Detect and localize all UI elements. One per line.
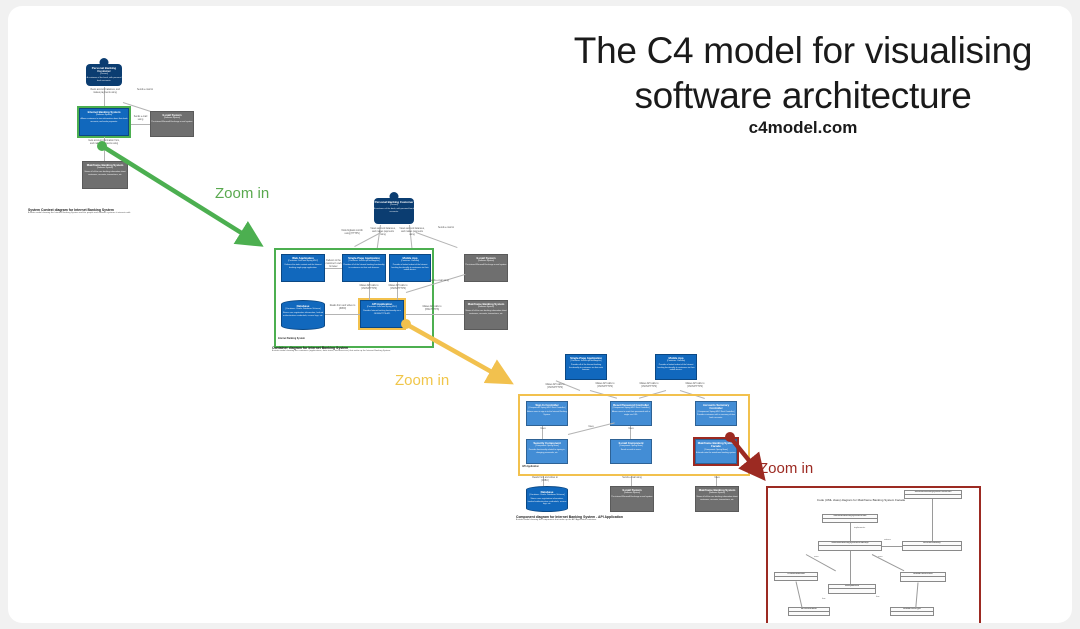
level1-system-context-diagram: Personal Banking Customer [Person] A cus… <box>28 58 168 228</box>
level2-edge-label-8: Reads from and writes to [JDBC] <box>326 305 359 311</box>
level3-cm0-stereotype: [Component: Spring MVC Rest Controller] <box>527 407 567 410</box>
level3-up1-description: Provides a limited subset of the Interne… <box>656 364 696 372</box>
level3-container-database[interactable]: Database [Container: Oracle Database Sch… <box>526 486 568 512</box>
level3-container-single-page-application[interactable]: Single-Page Application [Container: Java… <box>565 354 607 380</box>
level3-cm1-description: Allows users to reset their passwords wi… <box>611 411 651 416</box>
level4-edge-label-0: implements <box>854 527 865 529</box>
level1-system-description: Allows customers to view information abo… <box>80 118 128 123</box>
level3-edge-label-6: Uses <box>582 426 600 429</box>
level2-caption: Container diagram for Internet Banking S… <box>272 346 522 353</box>
level1-person-stereotype: [Person] <box>86 73 122 76</box>
level3-component-security-component[interactable]: Security Component [Component: Spring Be… <box>526 439 568 464</box>
level2-container-mobile-app[interactable]: Mobile App [Container: Xamarin] Provides… <box>389 254 431 282</box>
level2-ext1-description: Stores all of the core banking informati… <box>465 310 507 315</box>
level4-class-mainframe-facade-interface[interactable]: MainframeBankingSystemFacade <box>822 514 878 523</box>
level3-edge-label-9: Sends e-mail using <box>618 477 646 480</box>
screenshot-root: The C4 model for visualising software ar… <box>0 0 1080 629</box>
level3-external-mainframe-system[interactable]: Mainframe Banking System [Software Syste… <box>695 486 739 512</box>
level3-cm2-title: Accounts Summary Controller <box>696 404 736 411</box>
level3-cm4-stereotype: [Component: Spring Bean] <box>611 445 651 448</box>
level3-external-email-system[interactable]: E-mail System [Software System] The inte… <box>610 486 654 512</box>
level1-system-stereotype: [Software System] <box>80 114 128 117</box>
level2-edge-label-1: Visits bigbank.com/ib using [HTTPS] <box>340 230 364 236</box>
level2-edge-label-3: Views account balances, and makes paymen… <box>399 228 425 237</box>
level4-relation-uses-mid <box>850 551 851 584</box>
level4-edge-label-1: returns <box>884 539 891 541</box>
level4-code-diagram: Code (UML class) diagram for Mainframe B… <box>766 476 981 623</box>
level2-person-stereotype: [Person] <box>374 204 414 207</box>
level3-caption-sub: A static model showing the components th… <box>516 519 766 522</box>
level2-external-mainframe-system[interactable]: Mainframe Banking System [Software Syste… <box>464 300 508 330</box>
level2-edge-line-8 <box>325 314 360 315</box>
level3-edge-label-7: Uses <box>622 428 640 431</box>
level3-component-accounts-summary-controller[interactable]: Accounts Summary Controller [Component: … <box>695 401 737 426</box>
diagram-stage: The C4 model for visualising software ar… <box>8 6 1072 623</box>
level3-component-diagram: Single-Page Application [Container: Java… <box>510 346 760 526</box>
level3-container-mobile-app[interactable]: Mobile App [Container: Xamarin] Provides… <box>655 354 697 380</box>
level1-person-customer: Personal Banking Customer [Person] A cus… <box>86 58 122 86</box>
level2-edge-line-4 <box>416 232 458 248</box>
level2-c0-stereotype: [Container: Java and Spring MVC] <box>282 260 324 263</box>
page-subtitle: c4model.com <box>553 118 1053 138</box>
level2-ext0-stereotype: [Software System] <box>465 260 507 263</box>
zoom-in-label-green: Zoom in <box>215 185 269 202</box>
level4-class-customer-identifier[interactable]: CustomerIdentifier <box>774 572 818 581</box>
level1-caption-sub: A static model showing the Internet Bank… <box>28 212 168 215</box>
level3-edge-label-1: Makes API calls to [JSON/HTTPS] <box>542 384 568 390</box>
level4-edge-label-3: uses <box>878 556 883 558</box>
level3-edge-label-2: Makes API calls to [JSON/HTTPS] <box>592 383 618 389</box>
level4-relation-returns <box>882 546 902 547</box>
zoom-in-label-yellow: Zoom in <box>395 372 449 389</box>
level3-component-email-component[interactable]: E-mail Component [Component: Spring Bean… <box>610 439 652 464</box>
level1-mainframe-stereotype: [Software System] <box>83 167 127 170</box>
level1-email-stereotype: [Software System] <box>151 117 193 120</box>
page-title-line1: The C4 model for visualising <box>553 28 1053 73</box>
level4-edge-label-5: has <box>876 596 880 598</box>
level2-edge-line-10 <box>406 314 464 315</box>
level1-mainframe-description: Stores all of the core banking informati… <box>83 171 127 176</box>
level2-container-database[interactable]: Database [Container: Oracle Database Sch… <box>281 300 325 330</box>
level2-ext1-stereotype: [Software System] <box>465 306 507 309</box>
level2-db-description: Stores user registration information, ha… <box>282 312 324 317</box>
level2-edge-label-4: Sends e-mail to <box>432 227 460 230</box>
level3-cm5-title: Mainframe Banking System Facade <box>696 442 736 449</box>
level3-cm3-description: Provides functionality related to signin… <box>527 449 567 454</box>
level3-cm3-stereotype: [Component: Spring Bean] <box>527 445 567 448</box>
level4-edge-label-2: uses <box>814 556 819 558</box>
level2-ext0-description: The internal Microsoft Exchange e-mail s… <box>465 264 507 267</box>
level1-caption: System Context diagram for Internet Bank… <box>28 208 168 215</box>
level2-c3-stereotype: [Container: Java and Spring MVC] <box>361 306 403 309</box>
level3-component-mainframe-banking-system-facade[interactable]: Mainframe Banking System Facade [Compone… <box>695 439 737 464</box>
level4-class-account-number[interactable]: AccountNumber <box>788 607 830 616</box>
level2-db-stereotype: [Container: Oracle Database Schema] <box>282 308 324 311</box>
level2-edge-label-7: Makes API calls to [JSON/HTTPS] <box>385 285 411 291</box>
level4-class-mainframe-facade-impl[interactable]: MainframeBankingSystemFacadeImpl <box>818 541 882 551</box>
level3-up0-description: Provides all of the Internet banking fun… <box>566 364 606 372</box>
level3-dn2-stereotype: [Software System] <box>696 492 738 495</box>
level3-edge-label-5: Uses <box>534 428 552 431</box>
level1-edge-line-3 <box>131 124 150 125</box>
level2-container-single-page-application[interactable]: Single-Page Application [Container: Java… <box>342 254 386 282</box>
level4-edge-label-4: has <box>822 598 826 600</box>
level3-up0-stereotype: [Container: JavaScript and Angular] <box>566 360 606 363</box>
level3-boundary-label: API Application <box>522 466 572 469</box>
level3-component-sign-in-controller[interactable]: Sign In Controller [Component: Spring MV… <box>526 401 568 426</box>
level3-edge-label-8: Reads from and writes to [JDBC] <box>530 477 560 483</box>
level4-class-money-amount[interactable]: MoneyAmount <box>828 584 876 594</box>
level3-edge-label-3: Makes API calls to [JSON/HTTPS] <box>636 383 662 389</box>
level4-class-bank-account-type[interactable]: BankAccountType <box>890 607 934 616</box>
level2-c2-description: Provides a limited subset of the Interne… <box>390 264 430 272</box>
level3-cm5-description: A facade onto the mainframe banking syst… <box>696 452 736 455</box>
level3-component-reset-password-controller[interactable]: Reset Password Controller [Component: Sp… <box>610 401 652 426</box>
level3-dn0-description: Stores user registration information, ha… <box>527 498 567 506</box>
level2-container-diagram: Personal Banking Customer [Person] A cus… <box>266 192 516 357</box>
level4-class-mainframe-connection[interactable]: MainframeBankingSystemConnection <box>904 490 962 499</box>
level3-dn1-description: The internal Microsoft Exchange e-mail s… <box>611 496 653 499</box>
level3-cm2-description: Provides customers with a summary of the… <box>696 414 736 419</box>
level2-person-customer: Personal Banking Customer [Person] A cus… <box>374 192 414 224</box>
level4-relation-uses-connection <box>932 499 933 541</box>
level1-edge-label-4: Gets account information from, and makes… <box>87 140 121 146</box>
level3-up1-stereotype: [Container: Xamarin] <box>656 360 696 363</box>
level2-edge-label-2: Views account balances, and makes paymen… <box>370 228 396 237</box>
level2-c1-description: Provides all of the Internet banking fun… <box>343 264 385 269</box>
zoom-in-label-red: Zoom in <box>759 460 813 477</box>
level4-class-bank-account-details[interactable]: BankAccountDetails <box>900 572 946 582</box>
slide-card: The C4 model for visualising software ar… <box>8 6 1072 623</box>
level1-system-mainframe[interactable]: Mainframe Banking System [Software Syste… <box>82 161 128 189</box>
level3-cm4-description: Sends e-mails to users. <box>611 449 651 452</box>
level3-edge-label-4: Makes API calls to [JSON/HTTPS] <box>682 383 708 389</box>
page-title-line2: software architecture <box>553 73 1053 118</box>
level3-edge-label-10: Uses <box>708 477 726 480</box>
level3-dn0-stereotype: [Container: Oracle Database Schema] <box>527 494 567 497</box>
level1-edge-label-3: Sends e-mail using <box>131 116 150 122</box>
level2-edge-label-5: Delivers to the customer's web browser <box>323 260 344 269</box>
level3-cm1-stereotype: [Component: Spring MVC Rest Controller] <box>611 407 651 410</box>
level1-person-description: A customer of the bank, with personal ba… <box>86 77 122 82</box>
level2-boundary-label: Internet Banking System <box>278 338 348 341</box>
level3-cm0-description: Allows users to sign in to the Internet … <box>527 411 567 416</box>
level2-container-api-application[interactable]: API Application [Container: Java and Spr… <box>360 300 404 328</box>
level2-edge-label-10: Makes API calls to [XML/HTTPS] <box>416 306 448 312</box>
level2-container-web-application[interactable]: Web Application [Container: Java and Spr… <box>281 254 325 282</box>
level1-email-description: The internal Microsoft Exchange e-mail s… <box>151 121 193 124</box>
level2-caption-sub: A static model showing the containers (a… <box>272 350 522 353</box>
level2-edge-label-9: Sends e-mail using <box>426 280 452 283</box>
level2-c0-description: Delivers the static content and the Inte… <box>282 264 324 269</box>
level2-c2-stereotype: [Container: Xamarin] <box>390 260 430 263</box>
level4-relation-implements <box>850 523 851 541</box>
level2-external-email-system[interactable]: E-mail System [Software System] The inte… <box>464 254 508 282</box>
level1-system-internet-banking[interactable]: Internet Banking System [Software System… <box>79 108 129 136</box>
level2-person-description: A customer of the bank, with personal ba… <box>374 208 414 213</box>
level3-caption: Component diagram for Internet Banking S… <box>516 515 766 522</box>
level1-edge-label-2: Sends e-mail to <box>128 89 162 92</box>
level3-dn2-description: Stores all of the core banking informati… <box>696 496 738 501</box>
level3-dn1-stereotype: [Software System] <box>611 492 653 495</box>
level2-c3-description: Provides Internet banking functionality … <box>361 310 403 315</box>
level1-edge-label-1: Views account balances, and makes paymen… <box>88 89 122 95</box>
level2-c1-stereotype: [Container: JavaScript and Angular] <box>343 260 385 263</box>
level2-edge-label-6: Makes API calls to [JSON/HTTPS] <box>356 285 382 291</box>
level4-class-account-summary[interactable]: AccountSummary <box>902 541 962 551</box>
page-title: The C4 model for visualising software ar… <box>553 28 1053 118</box>
level1-system-email[interactable]: E-mail System [Software System] The inte… <box>150 111 194 137</box>
